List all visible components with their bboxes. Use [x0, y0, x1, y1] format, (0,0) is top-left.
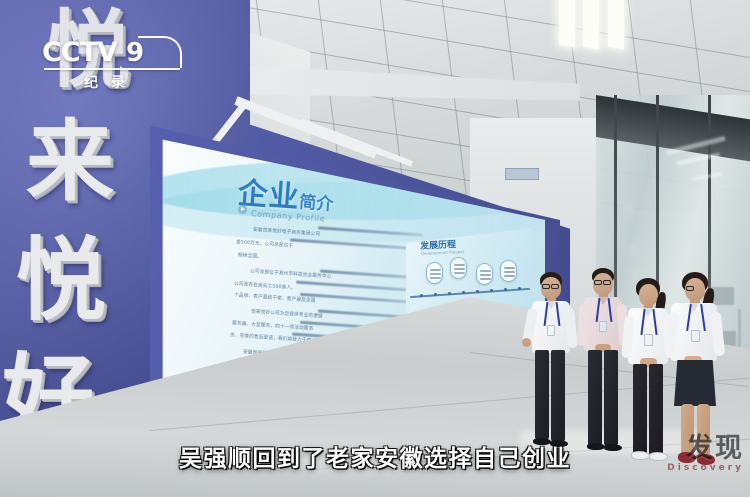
leg — [604, 350, 618, 446]
leg — [588, 350, 602, 446]
id-badge — [691, 330, 700, 342]
logo-swoosh — [138, 36, 182, 68]
glasses-icon — [542, 284, 550, 289]
board-title-secondary: 简介 — [299, 193, 334, 215]
ceiling-light-panel — [608, 0, 624, 50]
watermark-cn: 发现 — [667, 435, 744, 462]
id-badge — [599, 321, 607, 332]
channel-subtitle: 纪录 — [84, 72, 184, 92]
timeline-tick — [462, 291, 465, 294]
head — [639, 284, 658, 306]
timeline-node[interactable] — [500, 260, 517, 282]
glasses-icon — [594, 280, 602, 285]
timeline-tick — [448, 292, 451, 295]
timeline-axis — [410, 288, 530, 298]
timeline-node[interactable] — [450, 257, 467, 279]
timeline-tick — [434, 293, 437, 296]
glasses-icon — [686, 286, 694, 291]
channel-logo: CCTV 9 纪录 — [42, 34, 182, 100]
wall-letter-1: 来 — [26, 118, 114, 206]
wall-letter-2: 悦 — [16, 236, 106, 326]
id-badge — [644, 334, 653, 346]
subtitle: 吴强顺回到了老家安徽选择自己创业 — [0, 439, 750, 473]
hand — [522, 338, 531, 347]
wall-sign — [505, 168, 539, 180]
video-frame: 来 悦 好 悦 企业简介 Company Profile 安徽悦来悦好电子商务集… — [0, 0, 750, 497]
timeline-tick — [476, 290, 479, 293]
ceiling-light-panel — [583, 0, 599, 50]
logo-underline — [44, 68, 180, 70]
skirt — [674, 360, 716, 406]
timeline-node[interactable] — [426, 262, 443, 284]
timeline-node[interactable] — [476, 263, 493, 285]
watermark-en: Discovery — [667, 463, 744, 473]
glasses-icon — [551, 284, 559, 289]
glass-reflection — [692, 172, 722, 180]
id-badge — [547, 325, 555, 336]
watermark: 发现 Discovery — [667, 435, 744, 473]
timeline-tick — [504, 288, 507, 291]
ceiling-light-panel — [559, 0, 575, 48]
leg — [535, 350, 549, 440]
glasses-icon — [603, 280, 611, 285]
timeline-title-english: Development Process — [421, 249, 465, 256]
timeline-tick — [420, 294, 423, 297]
channel-logo-text: CCTV — [42, 39, 117, 66]
glass-reflection — [676, 152, 720, 165]
timeline-tick — [490, 289, 493, 292]
leg — [551, 350, 565, 442]
